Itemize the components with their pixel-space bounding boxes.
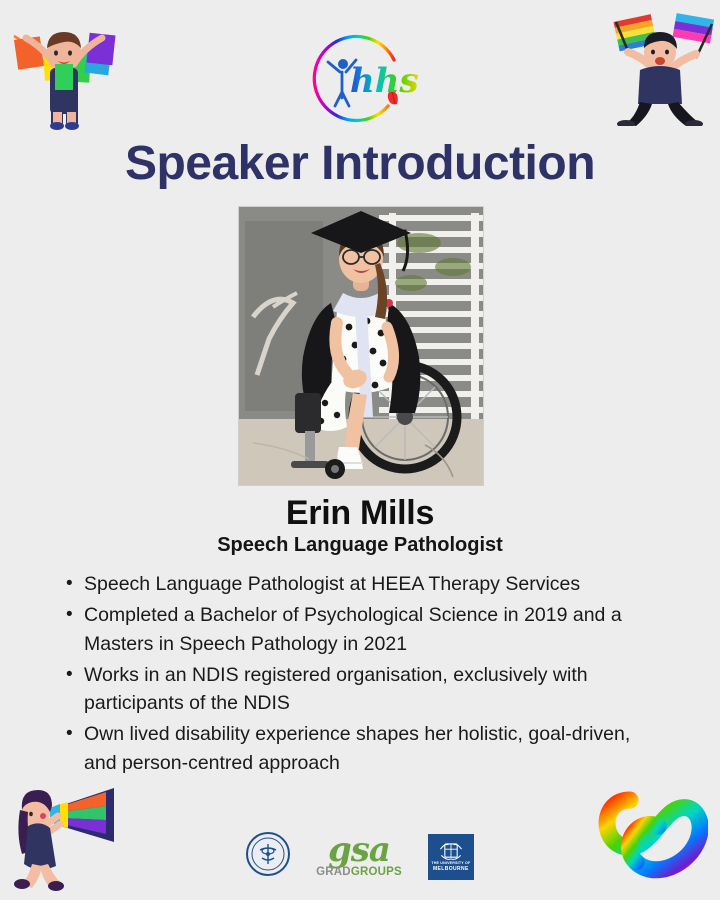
melbourne-crest-icon (436, 841, 466, 861)
speaker-bio-list: • Speech Language Pathologist at HEEA Th… (66, 570, 666, 780)
gsa-subtitle: GRADGROUPS (316, 867, 402, 879)
list-item-text: Speech Language Pathologist at HEEA Ther… (84, 570, 666, 598)
gsa-groups-word: GROUPS (351, 866, 402, 878)
list-item: • Completed a Bachelor of Psychological … (66, 601, 666, 658)
bullet-marker-icon: • (66, 570, 84, 598)
child-with-rainbow-bunting-illustration (8, 8, 120, 130)
bullet-marker-icon: • (66, 601, 84, 629)
gsa-grad-word: GRAD (316, 866, 351, 878)
list-item: • Own lived disability experience shapes… (66, 720, 666, 777)
speaker-role: Speech Language Pathologist (0, 534, 720, 557)
gsa-grad-groups-logo: gsa GRADGROUPS (316, 834, 402, 879)
list-item-text: Works in an NDIS registered organisation… (84, 661, 666, 718)
footer-logos: gsa GRADGROUPS THE UNIVERSITY OF MELBOUR… (0, 832, 720, 881)
list-item-text: Completed a Bachelor of Psychological Sc… (84, 601, 666, 658)
logo-wordmark: hhsa (350, 61, 418, 101)
person-with-pride-flags-illustration (600, 4, 718, 126)
university-of-melbourne-logo: THE UNIVERSITY OF MELBOURNE (428, 834, 474, 880)
poster-canvas: hhsa Speaker Introduction (0, 0, 720, 900)
bullet-marker-icon: • (66, 720, 84, 748)
hhsa-logo: hhsa (302, 26, 418, 126)
speaker-photo (238, 206, 484, 486)
speaker-name: Erin Mills (0, 494, 720, 533)
list-item-text: Own lived disability experience shapes h… (84, 720, 666, 777)
list-item: • Speech Language Pathologist at HEEA Th… (66, 570, 666, 598)
bullet-marker-icon: • (66, 661, 84, 689)
page-title: Speaker Introduction (0, 136, 720, 191)
list-item: • Works in an NDIS registered organisati… (66, 661, 666, 718)
university-seal-logo (246, 832, 290, 881)
melbourne-line-2: MELBOURNE (433, 866, 469, 872)
gsa-wordmark: gsa (328, 834, 390, 866)
